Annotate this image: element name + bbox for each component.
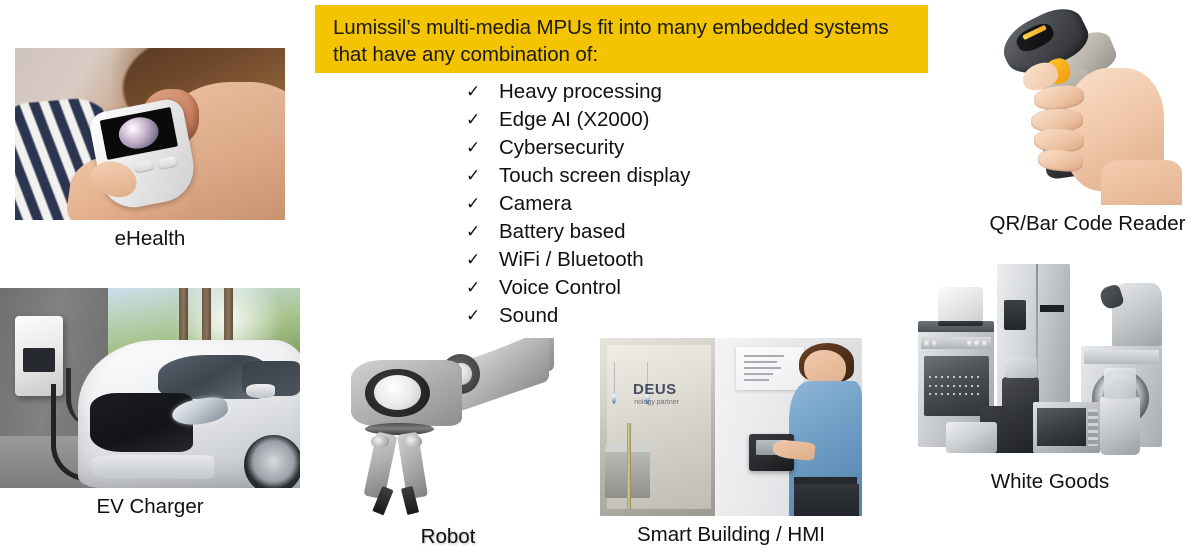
checklist-item: ✓ Cybersecurity <box>466 134 886 162</box>
hand-wrist <box>1101 160 1182 205</box>
fridge-water-dispenser <box>1004 300 1026 329</box>
stove-knob <box>924 340 929 347</box>
check-icon: ✓ <box>466 274 499 302</box>
directory-sign <box>736 347 804 390</box>
check-icon: ✓ <box>466 190 499 218</box>
office-tagline-text: nology partner <box>634 399 679 406</box>
checklist-item: ✓ Camera <box>466 190 886 218</box>
sign-text-line <box>744 379 769 381</box>
checklist-item: ✓ Touch screen display <box>466 162 886 190</box>
food-steamer <box>938 287 983 322</box>
check-icon: ✓ <box>466 218 499 246</box>
check-icon: ✓ <box>466 162 499 190</box>
person-trousers <box>794 484 860 516</box>
blender <box>1100 397 1139 454</box>
toaster <box>946 422 996 453</box>
car-bumper <box>92 455 214 479</box>
otoscope-button <box>158 155 179 169</box>
figure-caption-ev-charger: EV Charger <box>0 494 300 520</box>
robot-gripper-knuckle <box>371 435 389 448</box>
fridge-handle-slot <box>1040 305 1063 312</box>
figure-caption-qr-reader: QR/Bar Code Reader <box>975 211 1200 237</box>
checklist-item-label: Battery based <box>499 218 626 246</box>
stove-knob <box>982 340 987 347</box>
checklist-item-label: Voice Control <box>499 274 621 302</box>
checklist-item: ✓ Battery based <box>466 218 886 246</box>
robot-illustration <box>333 338 563 518</box>
checklist-item: ✓ Heavy processing <box>466 78 886 106</box>
feature-checklist: ✓ Heavy processing ✓ Edge AI (X2000) ✓ C… <box>466 78 886 330</box>
toaster-oven <box>1033 402 1100 453</box>
car-front-grille <box>90 393 193 452</box>
figure-ev-charger: EV Charger <box>0 288 300 520</box>
checklist-item-label: WiFi / Bluetooth <box>499 246 644 274</box>
white-goods-photo <box>910 258 1190 463</box>
sign-text-line <box>744 373 773 375</box>
headline-text: Lumissil’s multi-media MPUs fit into man… <box>333 14 914 68</box>
figure-qr-reader: QR/Bar Code Reader <box>975 0 1200 237</box>
checklist-item: ✓ Edge AI (X2000) <box>466 106 886 134</box>
blender-jar <box>1104 368 1137 399</box>
sign-text-line <box>744 361 777 363</box>
oven-rack <box>929 376 984 378</box>
checklist-item-label: Camera <box>499 190 572 218</box>
figure-white-goods: White Goods <box>910 258 1190 495</box>
robot-shoulder-hub <box>365 369 429 418</box>
qr-reader-photo <box>975 0 1200 205</box>
oven-rack <box>929 385 984 387</box>
barrier-post <box>627 423 631 508</box>
car-wheel <box>244 435 300 488</box>
oven-door <box>924 356 989 415</box>
office-logo-text: DEUS <box>633 381 677 398</box>
juicer-lid <box>1005 357 1037 378</box>
checklist-item-label: Sound <box>499 302 558 330</box>
figure-caption-white-goods: White Goods <box>910 469 1190 495</box>
checklist-item-label: Cybersecurity <box>499 134 624 162</box>
stove-knob <box>932 340 937 347</box>
figure-robot: Robot <box>333 338 563 550</box>
checklist-item: ✓ Voice Control <box>466 274 886 302</box>
check-icon: ✓ <box>466 302 499 330</box>
steamer-base <box>938 321 983 327</box>
oven-rack <box>929 393 984 395</box>
figure-smart-building: DEUS nology partner Smart Building / HMI <box>600 338 862 548</box>
check-icon: ✓ <box>466 134 499 162</box>
robot-hub-core <box>388 383 407 398</box>
figure-caption-ehealth: eHealth <box>15 226 285 252</box>
checklist-item: ✓ Sound <box>466 302 886 330</box>
check-icon: ✓ <box>466 78 499 106</box>
check-icon: ✓ <box>466 106 499 134</box>
figure-ehealth: eHealth <box>15 48 285 252</box>
stove-knob <box>967 340 972 347</box>
ev-charger-photo <box>0 288 300 488</box>
toaster-oven-knobs <box>1088 409 1097 446</box>
car-side-mirror <box>246 384 274 397</box>
figure-caption-robot: Robot <box>333 524 563 550</box>
otoscope-screen <box>100 107 178 160</box>
stove-knob <box>974 340 979 347</box>
smart-building-photo: DEUS nology partner <box>600 338 862 516</box>
figure-caption-smart-building: Smart Building / HMI <box>600 522 862 548</box>
robot-gripper-knuckle <box>403 435 421 448</box>
checklist-item: ✓ WiFi / Bluetooth <box>466 246 886 274</box>
sign-text-line <box>744 355 784 357</box>
toaster-oven-window <box>1037 408 1085 446</box>
otoscope-lens-image <box>116 114 161 152</box>
check-icon: ✓ <box>466 246 499 274</box>
glass-entrance-door: DEUS nology partner <box>600 338 718 516</box>
ehealth-photo <box>15 48 285 220</box>
charger-display <box>23 348 56 372</box>
checklist-item-label: Touch screen display <box>499 162 690 190</box>
checklist-item-label: Edge AI (X2000) <box>499 106 649 134</box>
headline-banner: Lumissil’s multi-media MPUs fit into man… <box>315 5 928 73</box>
slide-root: Lumissil’s multi-media MPUs fit into man… <box>0 0 1200 558</box>
electric-car <box>78 340 300 488</box>
washer-control-panel <box>1084 350 1159 364</box>
checklist-item-label: Heavy processing <box>499 78 662 106</box>
meat-grinder <box>1112 283 1162 347</box>
sign-text-line <box>744 367 781 369</box>
otoscope-button <box>133 159 154 173</box>
